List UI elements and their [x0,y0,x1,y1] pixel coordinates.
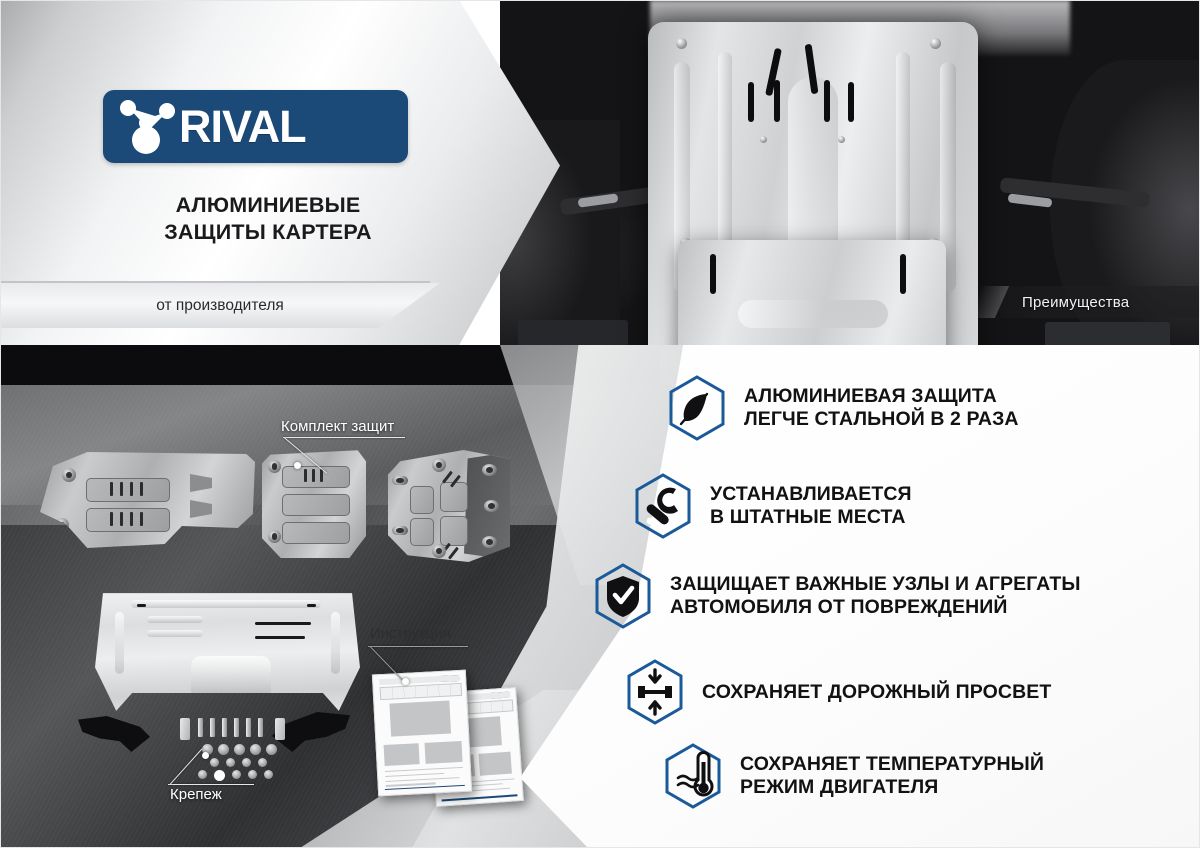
shield-check-icon [592,562,654,630]
callout-instruction: Инструкция [370,625,451,642]
title-line-2: ЗАЩИТЫ КАРТЕРА [103,219,433,246]
callout-dot-instruction [402,678,409,685]
feature-item-2: УСТАНАВЛИВАЕТСЯ В ШТАТНЫЕ МЕСТА [632,472,912,540]
callout-fasteners: Крепеж [170,786,222,803]
callout-line-fasteners [168,784,254,785]
advantages-label: Преимущества [1000,294,1129,311]
callout-dot-fasteners [202,752,209,759]
feature-text-1: АЛЮМИНИЕВАЯ ЗАЩИТА ЛЕГЧЕ СТАЛЬНОЙ В 2 РА… [744,385,1019,431]
ground-clearance-icon [624,658,686,726]
thermometer-icon [662,742,724,810]
feature-text-3: ЗАЩИЩАЕТ ВАЖНЫЕ УЗЛЫ И АГРЕГАТЫ АВТОМОБИ… [670,573,1081,619]
title-line-1: АЛЮМИНИЕВЫЕ [103,192,433,219]
callout-line-set [283,437,405,438]
underbody-photo: Преимущества [500,0,1200,345]
feather-icon [666,374,728,442]
feature-text-4: СОХРАНЯЕТ ДОРОЖНЫЙ ПРОСВЕТ [702,681,1051,704]
subtitle-strip: от производителя [0,283,440,328]
feature-item-3: ЗАЩИЩАЕТ ВАЖНЫЕ УЗЛЫ И АГРЕГАТЫ АВТОМОБИ… [592,562,1081,630]
feature-text-5: СОХРАНЯЕТ ТЕМПЕРАТУРНЫЙ РЕЖИМ ДВИГАТЕЛЯ [740,753,1044,799]
protection-plate-3 [388,450,510,562]
callout-protection-set: Комплект защит [281,418,394,435]
advantages-banner: Преимущества [1000,286,1200,318]
feature-text-2: УСТАНАВЛИВАЕТСЯ В ШТАТНЫЕ МЕСТА [710,483,912,529]
rival-logo: RIVAL [103,90,408,163]
header-divider [0,281,430,283]
wrench-icon [632,472,694,540]
fastener-kit [180,718,290,772]
instruction-document-front [372,670,472,797]
feature-item-5: СОХРАНЯЕТ ТЕМПЕРАТУРНЫЙ РЕЖИМ ДВИГАТЕЛЯ [662,742,1044,810]
feature-item-4: СОХРАНЯЕТ ДОРОЖНЫЙ ПРОСВЕТ [624,658,1051,726]
subtitle-text: от производителя [156,297,284,315]
molecule-icon [115,96,181,158]
feature-item-1: АЛЮМИНИЕВАЯ ЗАЩИТА ЛЕГЧЕ СТАЛЬНОЙ В 2 РА… [666,374,1019,442]
callout-line-instruction [368,646,468,647]
logo-wordmark: RIVAL [179,104,306,149]
callout-dot-set [294,462,301,469]
page-title: АЛЮМИНИЕВЫЕ ЗАЩИТЫ КАРТЕРА [103,192,433,246]
promo-banner: Преимущества RIVAL АЛЮМИНИЕВЫЕ ЗАЩИТЫ КА… [0,0,1200,848]
